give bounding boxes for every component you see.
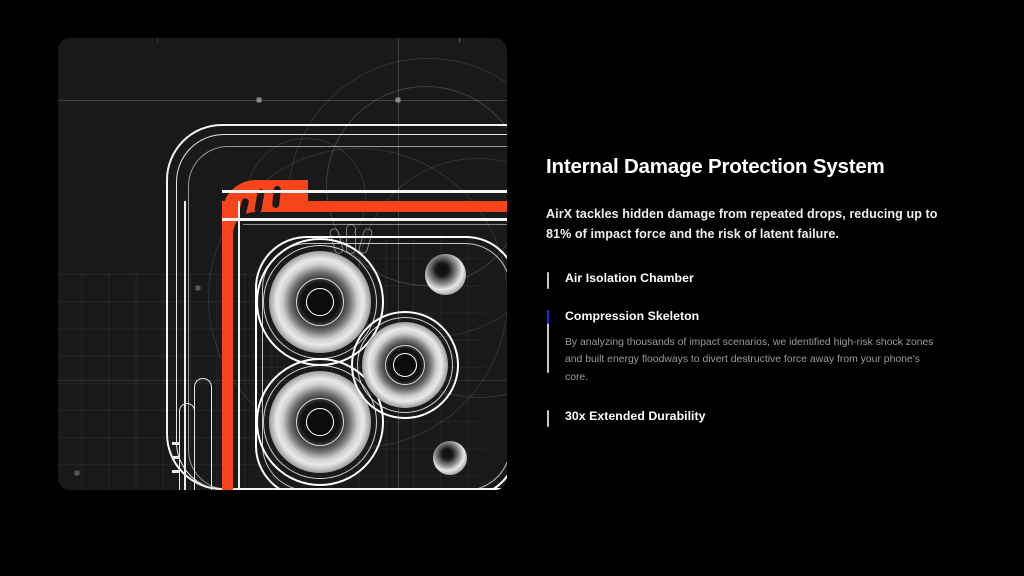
rail-below-band [222,218,507,221]
connector-tick-3 [172,470,180,473]
rail-above-band [222,190,507,193]
port-connector-outer [194,378,212,490]
feature-progress-bar-active [547,310,549,373]
feature-description: By analyzing thousands of impact scenari… [565,334,935,388]
port-connector-inner [179,403,195,490]
lidar-sensor [433,441,467,475]
connector-tick-1 [172,442,180,445]
page-title: Internal Damage Protection System [546,155,966,180]
port-rail-left [184,201,186,490]
feature-progress-bar [547,272,549,289]
intro-paragraph: AirX tackles hidden damage from repeated… [546,204,938,245]
feature-label: Air Isolation Chamber [565,270,966,287]
feature-label: 30x Extended Durability [565,408,966,425]
feature-item-30x-extended-durability[interactable]: 30x Extended Durability [546,408,966,425]
flash-sensor [425,254,466,295]
feature-item-air-isolation-chamber[interactable]: Air Isolation Chamber [546,270,966,287]
lens-tertiary-pupil [393,353,417,377]
illustration-panel [58,38,507,490]
dashed-axis-left [157,38,158,490]
feature-item-compression-skeleton[interactable]: Compression Skeleton By analyzing thousa… [546,308,966,387]
rail-hairline [243,224,507,225]
lens-secondary-pupil [306,408,334,436]
node-dot-left [257,98,262,103]
lens-primary-pupil [306,288,334,316]
page-root: Internal Damage Protection System AirX t… [0,0,1024,576]
feature-progress-fill-active [547,310,549,324]
copy-column: Internal Damage Protection System AirX t… [546,155,966,425]
feature-list: Air Isolation Chamber Compression Skelet… [546,270,966,424]
feature-label: Compression Skeleton [565,308,966,325]
node-dot-corner [75,471,80,476]
orange-impact-strip [222,201,233,490]
connector-tick-2 [172,456,180,459]
feature-progress-bar [547,410,549,427]
port-rail-right [238,201,240,490]
